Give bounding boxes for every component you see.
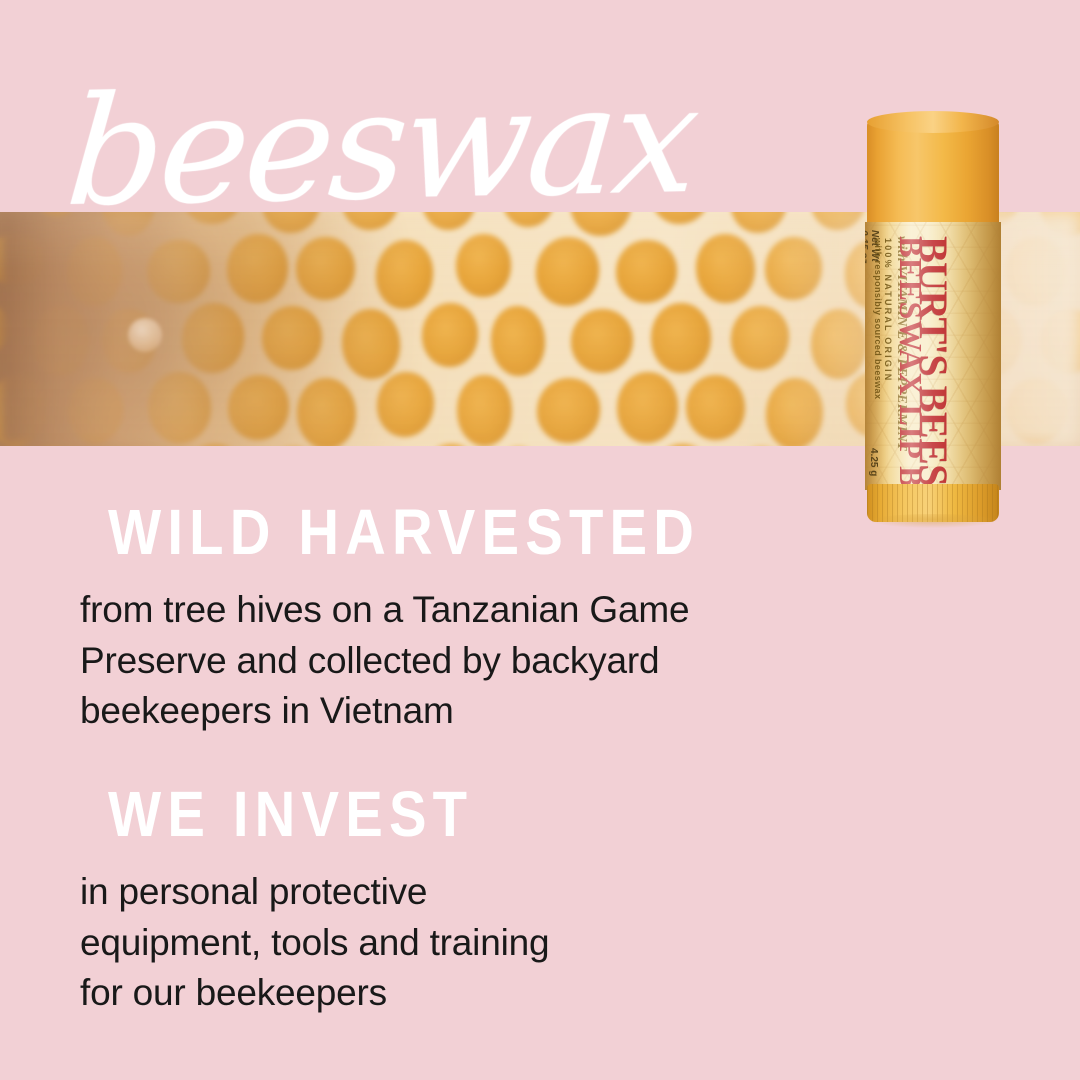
section-headline: WILD HARVESTED [108, 500, 963, 565]
lip-balm-cap [867, 118, 999, 226]
section-wild-harvested: WILD HARVESTED from tree hives on a Tanz… [0, 500, 1080, 736]
lip-balm-base-shadow [869, 514, 997, 528]
label-gloss-overlay [865, 222, 1001, 490]
section-body-text: in personal protective equipment, tools … [80, 867, 840, 1018]
lip-balm-product-image: Net Wt 0.15 oz with responsibly sourced … [857, 118, 1009, 532]
script-headline-beeswax: beeswax [62, 65, 701, 228]
lip-balm-cap-top-ellipse [867, 111, 999, 133]
product-infographic-canvas: beeswax Net Wt 0.15 oz with responsibly … [0, 0, 1080, 1080]
section-body-text: from tree hives on a Tanzanian Game Pres… [80, 585, 840, 736]
section-headline: WE INVEST [108, 782, 963, 847]
section-we-invest: WE INVEST in personal protective equipme… [0, 782, 1080, 1018]
lip-balm-tube-body: Net Wt 0.15 oz with responsibly sourced … [865, 222, 1001, 490]
